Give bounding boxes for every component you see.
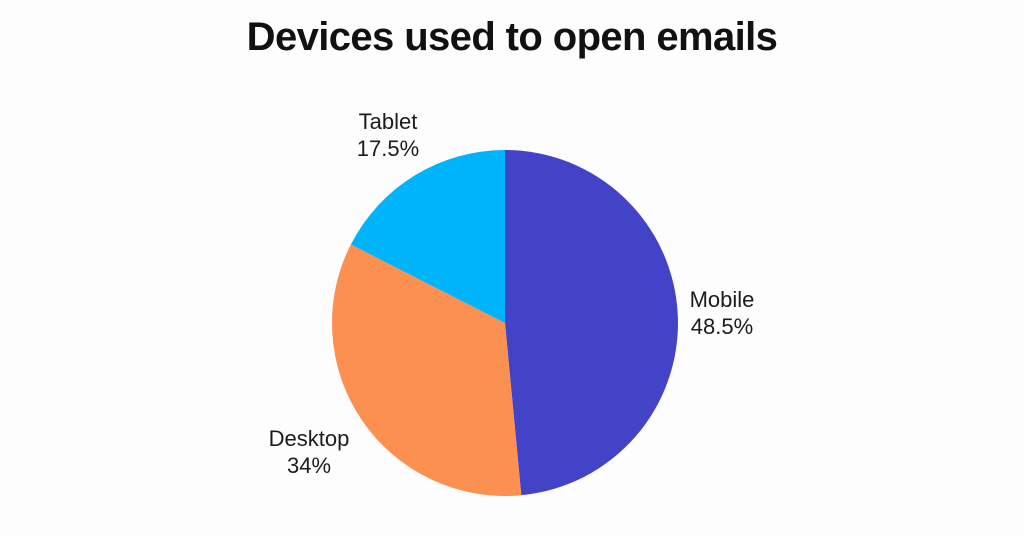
pie-label-mobile: Mobile 48.5% bbox=[642, 286, 802, 340]
pie-label-desktop-name: Desktop bbox=[229, 425, 389, 452]
pie-label-tablet-value: 17.5% bbox=[308, 135, 468, 162]
pie-label-tablet: Tablet 17.5% bbox=[308, 108, 468, 162]
pie-label-mobile-value: 48.5% bbox=[642, 313, 802, 340]
pie-label-desktop-value: 34% bbox=[229, 452, 389, 479]
pie-label-tablet-name: Tablet bbox=[308, 108, 468, 135]
page-title: Devices used to open emails bbox=[0, 13, 1024, 61]
pie-label-desktop: Desktop 34% bbox=[229, 425, 389, 479]
pie-label-mobile-name: Mobile bbox=[642, 286, 802, 313]
chart-canvas: Devices used to open emails Tablet 17.5%… bbox=[0, 0, 1024, 536]
